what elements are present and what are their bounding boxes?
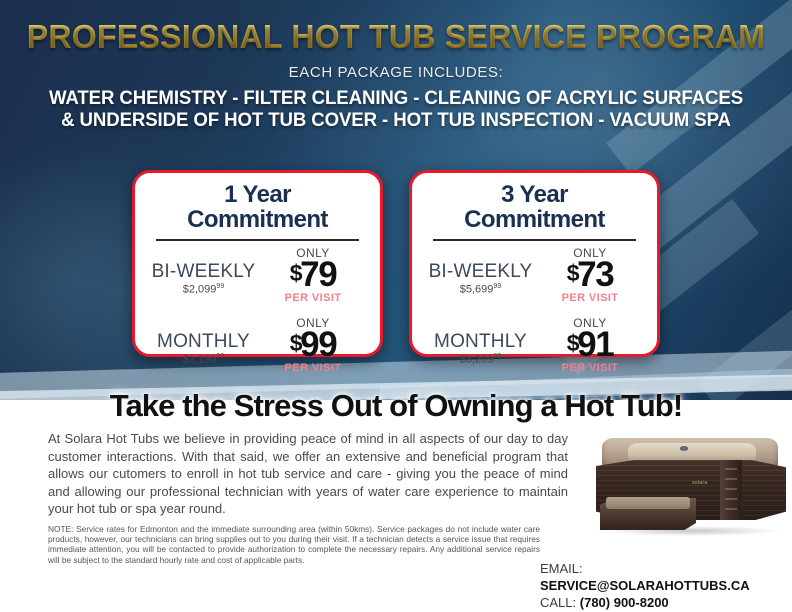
- body-paragraph: At Solara Hot Tubs we believe in providi…: [48, 430, 568, 518]
- term-block: BI-WEEKLY $5,69999: [425, 247, 536, 296]
- term-total-value: $1,199: [183, 354, 217, 366]
- card-title-line-2: Commitment: [425, 207, 644, 232]
- includes-label: EACH PACKAGE INCLUDES:: [0, 64, 792, 81]
- hot-tub-brand-logo: solara: [692, 480, 707, 486]
- price-block: ONLY $73 PER VISIT: [536, 247, 644, 304]
- per-visit-label: PER VISIT: [536, 363, 644, 374]
- term-total-value: $3,299: [460, 354, 494, 366]
- card-title-line-1: 3 Year: [425, 182, 644, 207]
- term-total: $3,29999: [425, 353, 536, 366]
- per-visit-label: PER VISIT: [536, 293, 644, 304]
- includes-line-1: WATER CHEMISTRY - FILTER CLEANING - CLEA…: [8, 88, 784, 110]
- term-total: $2,09999: [148, 283, 259, 296]
- hot-tub-step-tread: [606, 497, 690, 509]
- call-label: CALL:: [540, 595, 576, 610]
- price-amount: $79: [259, 256, 367, 292]
- price-row-biweekly: BI-WEEKLY $5,69999 ONLY $73 PER VISIT: [425, 247, 644, 304]
- card-divider: [433, 239, 636, 241]
- price-row-monthly: MONTHLY $3,29999 ONLY $91 PER VISIT: [425, 317, 644, 374]
- card-divider: [156, 239, 359, 241]
- term-label: BI-WEEKLY: [148, 262, 259, 282]
- page-title: PROFESSIONAL HOT TUB SERVICE PROGRAM: [12, 18, 780, 56]
- term-total-cents: 99: [216, 283, 224, 290]
- price-value: 73: [577, 255, 613, 294]
- term-block: BI-WEEKLY $2,09999: [148, 247, 259, 296]
- term-total: $5,69999: [425, 283, 536, 296]
- term-label: BI-WEEKLY: [425, 262, 536, 282]
- term-total-cents: 99: [493, 283, 501, 290]
- card-title-line-2: Commitment: [148, 207, 367, 232]
- price-row-biweekly: BI-WEEKLY $2,09999 ONLY $79 PER VISIT: [148, 247, 367, 304]
- pricing-card-1-year[interactable]: 1 Year Commitment BI-WEEKLY $2,09999 ONL…: [132, 170, 383, 357]
- email-value[interactable]: SERVICE@SOLARAHOTTUBS.CA: [540, 578, 750, 593]
- includes-list: WATER CHEMISTRY - FILTER CLEANING - CLEA…: [8, 88, 784, 132]
- per-visit-label: PER VISIT: [259, 293, 367, 304]
- price-row-monthly: MONTHLY $1,19999 ONLY $99 PER VISIT: [148, 317, 367, 374]
- price-amount: $99: [259, 326, 367, 362]
- flyer-page: PROFESSIONAL HOT TUB SERVICE PROGRAM EAC…: [0, 0, 792, 612]
- price-block: ONLY $91 PER VISIT: [536, 317, 644, 374]
- term-total-cents: 99: [493, 353, 501, 360]
- price-value: 91: [577, 325, 613, 364]
- phone-value[interactable]: (780) 900-8200: [580, 595, 669, 610]
- fine-print-note: NOTE: Service rates for Edmonton and the…: [48, 524, 540, 565]
- section-headline: Take the Stress Out of Owning a Hot Tub!: [0, 388, 792, 424]
- term-total-value: $5,699: [460, 284, 494, 296]
- term-total: $1,19999: [148, 353, 259, 366]
- term-total-value: $2,099: [183, 284, 217, 296]
- contact-phone-row: CALL: (780) 900-8200: [540, 594, 792, 611]
- contact-block: EMAIL: SERVICE@SOLARAHOTTUBS.CA CALL: (7…: [540, 560, 792, 611]
- per-visit-label: PER VISIT: [259, 363, 367, 374]
- price-block: ONLY $79 PER VISIT: [259, 247, 367, 304]
- term-block: MONTHLY $1,19999: [148, 317, 259, 366]
- price-value: 79: [300, 255, 336, 294]
- price-amount: $73: [536, 256, 644, 292]
- contact-email-row: EMAIL: SERVICE@SOLARAHOTTUBS.CA: [540, 560, 792, 594]
- email-label: EMAIL:: [540, 561, 583, 576]
- card-title: 3 Year Commitment: [425, 182, 644, 232]
- term-label: MONTHLY: [148, 332, 259, 352]
- price-value: 99: [300, 325, 336, 364]
- hot-tub-corner-panel: [720, 460, 742, 520]
- card-title-line-1: 1 Year: [148, 182, 367, 207]
- includes-line-2: & UNDERSIDE OF HOT TUB COVER - HOT TUB I…: [8, 110, 784, 132]
- hot-tub-image: solara: [596, 438, 786, 538]
- term-label: MONTHLY: [425, 332, 536, 352]
- pricing-cards: 1 Year Commitment BI-WEEKLY $2,09999 ONL…: [0, 170, 792, 357]
- card-title: 1 Year Commitment: [148, 182, 367, 232]
- price-amount: $91: [536, 326, 644, 362]
- pricing-card-3-year[interactable]: 3 Year Commitment BI-WEEKLY $5,69999 ONL…: [409, 170, 660, 357]
- hot-tub-jet-icon: [680, 446, 688, 451]
- term-block: MONTHLY $3,29999: [425, 317, 536, 366]
- term-total-cents: 99: [216, 353, 224, 360]
- price-block: ONLY $99 PER VISIT: [259, 317, 367, 374]
